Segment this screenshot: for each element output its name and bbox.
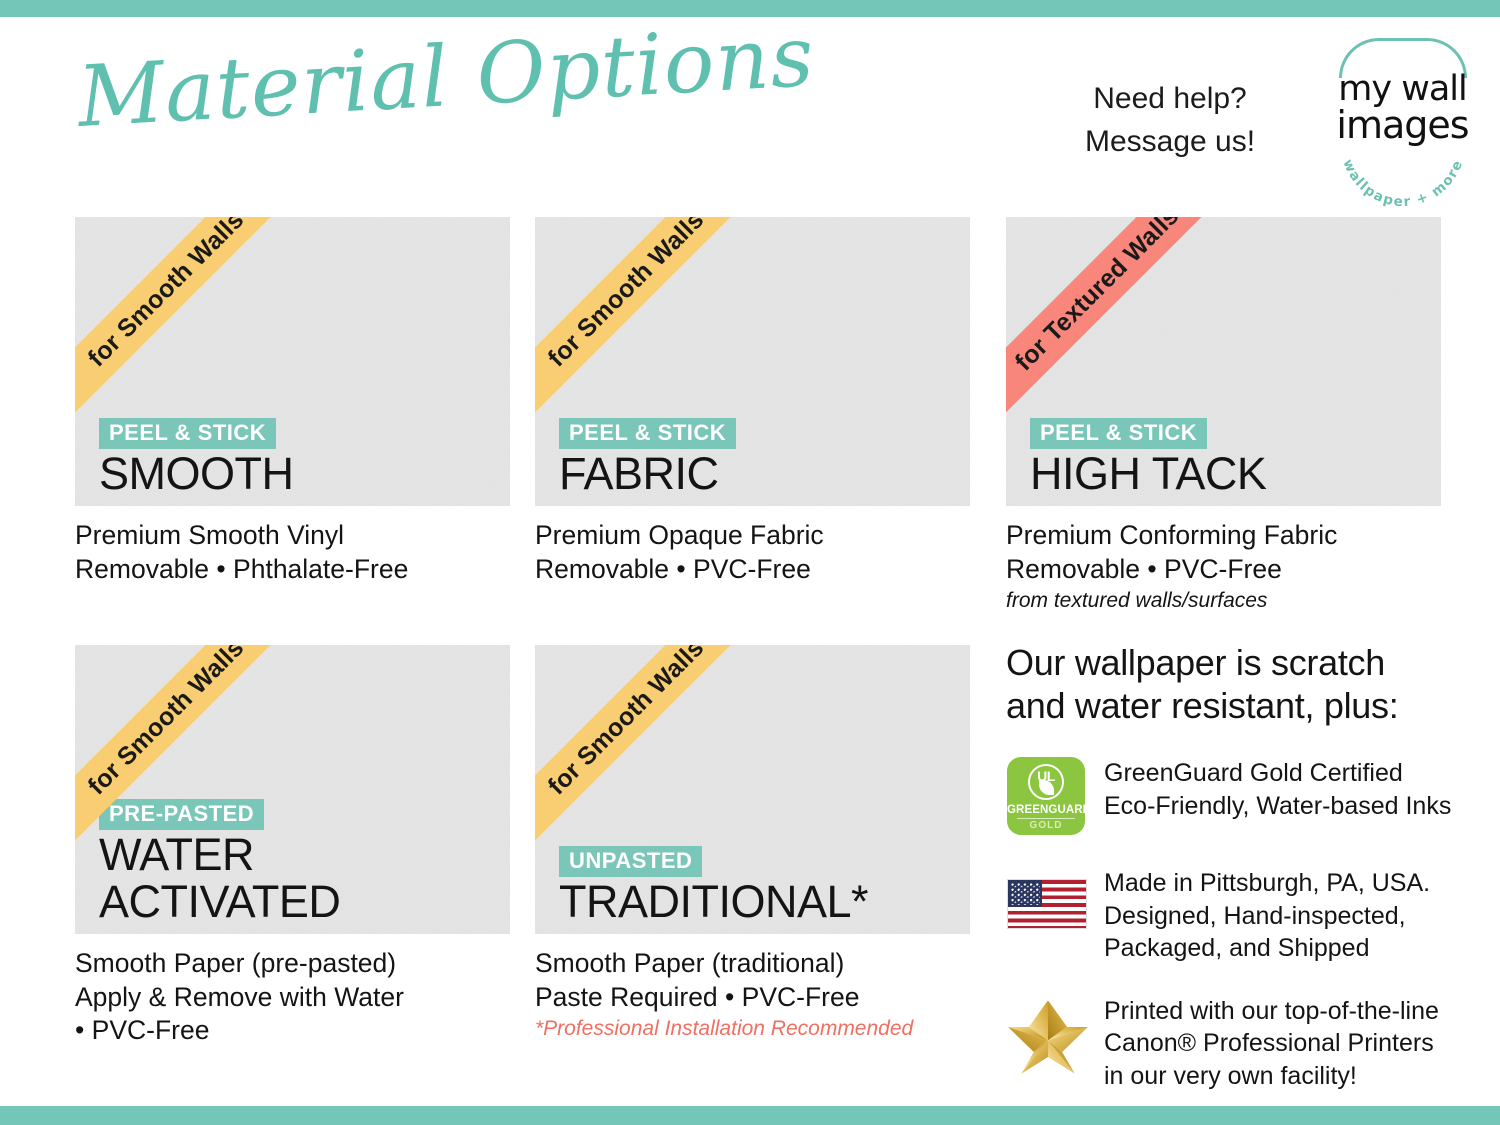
flag-canton (1008, 880, 1042, 907)
feature-text: Made in Pittsburgh, PA, USA. Designed, H… (1104, 865, 1430, 965)
logo-tagline: wallpaper + more (1337, 138, 1469, 186)
material-card-water-activated[interactable]: for Smooth Walls PRE-PASTED WATER ACTIVA… (75, 645, 510, 1048)
material-options-infographic: Material Options Need help? Message us! … (0, 0, 1500, 1125)
application-badge: UNPASTED (559, 846, 702, 877)
material-card-smooth[interactable]: for Smooth Walls PEEL & STICK SMOOTH Pre… (75, 217, 510, 586)
material-name: TRADITIONAL* (559, 879, 868, 926)
material-label-group: PEEL & STICK SMOOTH (99, 418, 294, 498)
bottom-accent-bar (0, 1106, 1500, 1125)
material-caption: Premium Conforming Fabric Removable • PV… (1006, 519, 1441, 586)
material-label-group: PRE-PASTED WATER ACTIVATED (99, 799, 340, 926)
features-heading: Our wallpaper is scratch and water resis… (1006, 641, 1466, 727)
material-thumbnail-traditional: for Smooth Walls UNPASTED TRADITIONAL* (535, 645, 970, 934)
wall-type-ribbon: for Smooth Walls (535, 645, 759, 850)
wall-type-ribbon: for Smooth Walls (535, 217, 759, 422)
material-note: from textured walls/surfaces (1006, 587, 1441, 614)
material-card-high-tack[interactable]: for Textured Walls PEEL & STICK HIGH TAC… (1006, 217, 1441, 615)
logo-word-my-wall: my wall (1325, 72, 1480, 107)
material-note: *Professional Installation Recommended (535, 1015, 970, 1042)
page-title: Material Options (75, 7, 817, 146)
svg-text:wallpaper + more: wallpaper + more (1339, 157, 1466, 210)
material-card-traditional[interactable]: for Smooth Walls UNPASTED TRADITIONAL* S… (535, 645, 970, 1043)
feature-made-in-usa: Made in Pittsburgh, PA, USA. Designed, H… (1006, 865, 1466, 965)
material-caption: Premium Smooth Vinyl Removable • Phthala… (75, 519, 510, 586)
feature-canon-printers: Printed with our top-of-the-line Canon® … (1006, 993, 1466, 1093)
brand-logo: my wall images wallpaper + more (1325, 34, 1480, 184)
material-label-group: PEEL & STICK HIGH TACK (1030, 418, 1266, 498)
usa-flag-icon (1006, 865, 1088, 947)
gold-star-icon (1006, 993, 1088, 1075)
material-caption: Smooth Paper (pre-pasted) Apply & Remove… (75, 947, 510, 1048)
material-thumbnail-smooth: for Smooth Walls PEEL & STICK SMOOTH (75, 217, 510, 506)
material-thumbnail-fabric: for Smooth Walls PEEL & STICK FABRIC (535, 217, 970, 506)
application-badge: PEEL & STICK (559, 418, 736, 449)
feature-text: GreenGuard Gold Certified Eco-Friendly, … (1104, 755, 1451, 822)
application-badge: PRE-PASTED (99, 799, 264, 830)
application-badge: PEEL & STICK (99, 418, 276, 449)
wall-type-ribbon: for Textured Walls (1006, 217, 1230, 422)
need-help-line-2: Message us! (1055, 121, 1285, 164)
features-panel: Our wallpaper is scratch and water resis… (1006, 641, 1466, 1092)
material-label-group: PEEL & STICK FABRIC (559, 418, 736, 498)
material-name: FABRIC (559, 451, 736, 498)
need-help-text: Need help? Message us! (1055, 78, 1285, 163)
material-caption: Smooth Paper (traditional) Paste Require… (535, 947, 970, 1014)
material-name: HIGH TACK (1030, 451, 1266, 498)
need-help-line-1: Need help? (1055, 78, 1285, 121)
material-label-group: UNPASTED TRADITIONAL* (559, 846, 868, 926)
feature-greenguard: UL GREENGUARD GOLD GreenGuard Gold Certi… (1006, 755, 1466, 837)
greenguard-divider (1017, 818, 1075, 819)
material-thumbnail-high-tack: for Textured Walls PEEL & STICK HIGH TAC… (1006, 217, 1441, 506)
material-name: WATER ACTIVATED (99, 832, 340, 926)
material-caption: Premium Opaque Fabric Removable • PVC-Fr… (535, 519, 970, 586)
logo-tagline-text: wallpaper + more (1339, 157, 1466, 210)
feature-text: Printed with our top-of-the-line Canon® … (1104, 993, 1439, 1093)
material-name: SMOOTH (99, 451, 294, 498)
greenguard-gold-badge-icon: UL GREENGUARD GOLD (1006, 755, 1088, 837)
flag-stars (1010, 882, 1040, 905)
greenguard-level-text: GOLD (1007, 820, 1085, 831)
greenguard-name-text: GREENGUARD (1007, 804, 1085, 816)
material-card-fabric[interactable]: for Smooth Walls PEEL & STICK FABRIC Pre… (535, 217, 970, 586)
material-thumbnail-water-activated: for Smooth Walls PRE-PASTED WATER ACTIVA… (75, 645, 510, 934)
wall-type-ribbon: for Smooth Walls (75, 217, 299, 422)
application-badge: PEEL & STICK (1030, 418, 1207, 449)
